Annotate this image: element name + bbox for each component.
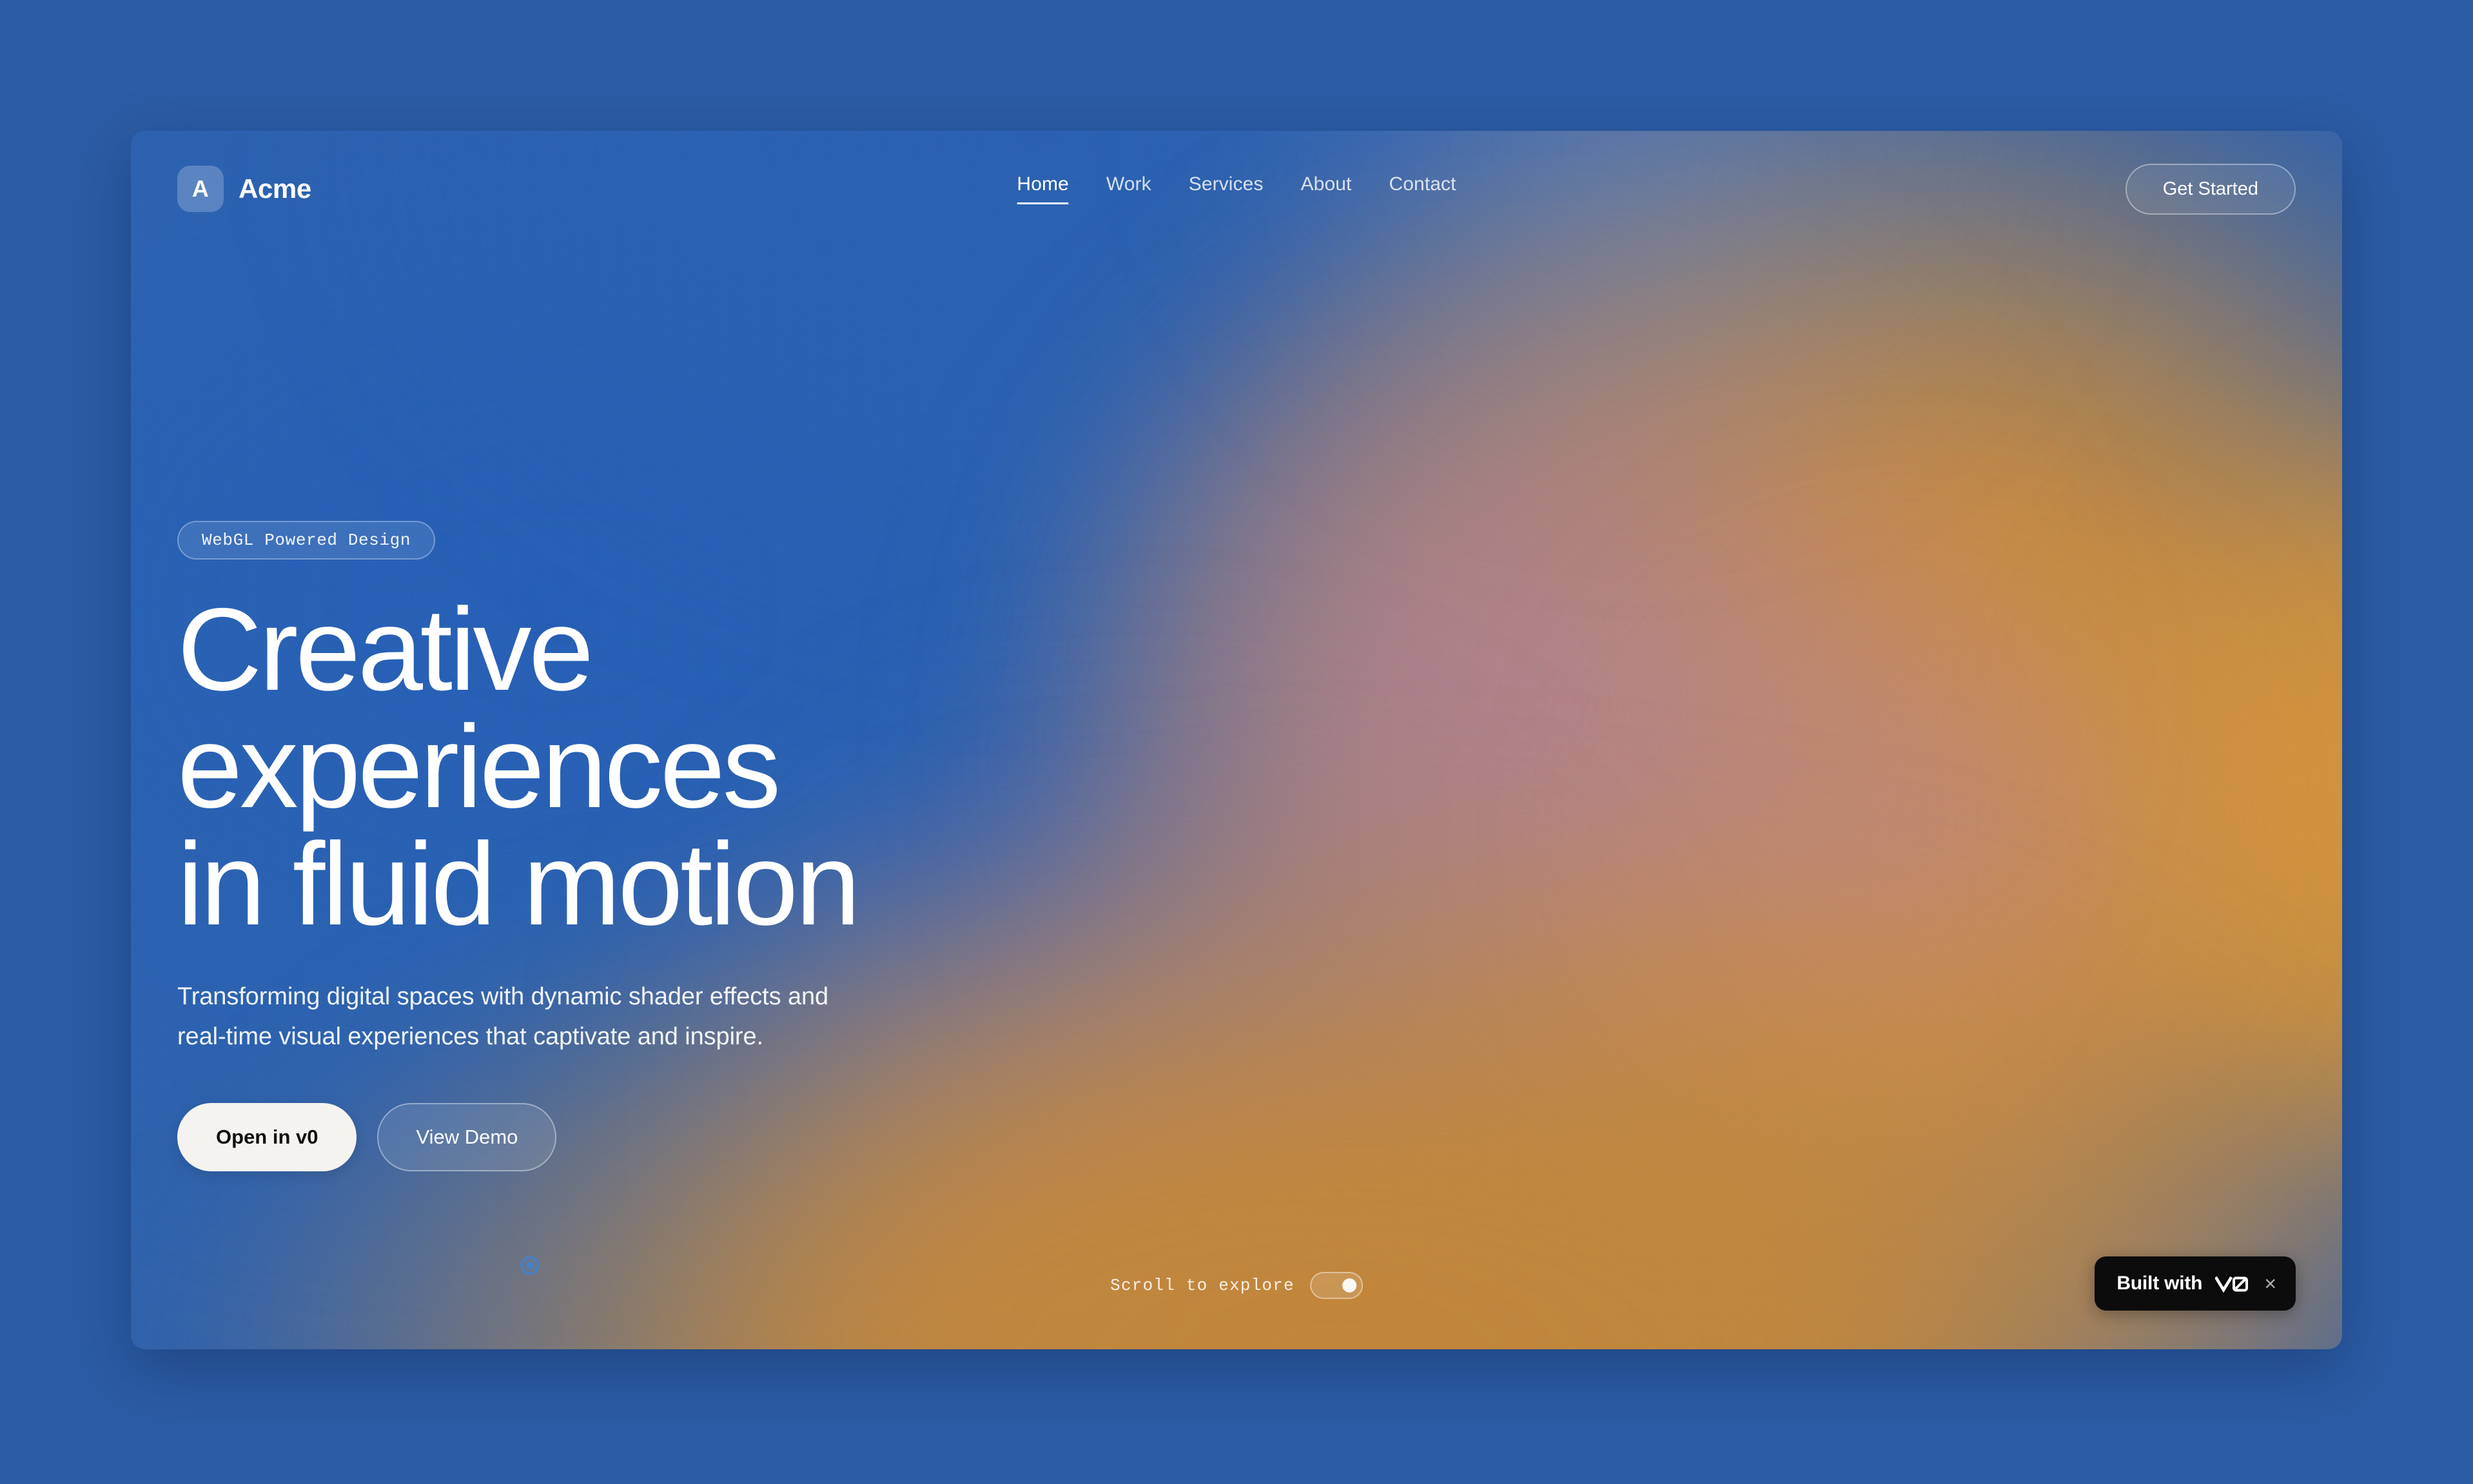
open-in-v0-button[interactable]: Open in v0 <box>177 1103 357 1171</box>
hero-actions: Open in v0 View Demo <box>177 1103 857 1171</box>
nav-item-about[interactable]: About <box>1301 173 1352 204</box>
hero-title-line-1: Creative <box>177 591 857 708</box>
main-nav: Home Work Services About Contact <box>1017 173 1456 204</box>
scroll-indicator-thumb[interactable] <box>1342 1278 1356 1293</box>
built-with-label: Built with <box>2116 1273 2202 1294</box>
hero-subtitle-line-2: real-time visual experiences that captiv… <box>177 1017 857 1057</box>
site-header: A Acme Home Work Services About Contact … <box>131 131 2342 247</box>
brand-name: Acme <box>239 173 311 204</box>
scroll-indicator-label: Scroll to explore <box>1110 1276 1295 1295</box>
hero-subtitle: Transforming digital spaces with dynamic… <box>177 977 857 1057</box>
hero-subtitle-line-1: Transforming digital spaces with dynamic… <box>177 977 857 1017</box>
nav-item-contact[interactable]: Contact <box>1389 173 1456 204</box>
get-started-button[interactable]: Get Started <box>2126 164 2296 215</box>
nav-item-services[interactable]: Services <box>1189 173 1264 204</box>
v0-logo-icon <box>2215 1274 2249 1293</box>
cursor-dot <box>520 1256 540 1275</box>
scroll-indicator-track[interactable] <box>1310 1272 1363 1299</box>
hero-card: A Acme Home Work Services About Contact … <box>131 131 2342 1349</box>
nav-item-home[interactable]: Home <box>1017 173 1068 204</box>
built-with-v0-badge[interactable]: Built with × <box>2095 1256 2296 1311</box>
nav-item-work[interactable]: Work <box>1106 173 1151 204</box>
hero-title-line-3: in fluid motion <box>177 825 857 942</box>
close-icon[interactable]: × <box>2262 1273 2279 1294</box>
hero-content: WebGL Powered Design Creative experience… <box>177 521 857 1171</box>
hero-title: Creative experiences in fluid motion <box>177 591 857 942</box>
scroll-indicator[interactable]: Scroll to explore <box>1110 1272 1363 1299</box>
brand-logo[interactable]: A Acme <box>177 166 311 212</box>
view-demo-button[interactable]: View Demo <box>377 1103 556 1171</box>
hero-badge: WebGL Powered Design <box>177 521 435 560</box>
hero-title-line-2: experiences <box>177 708 857 825</box>
brand-mark-icon: A <box>177 166 224 212</box>
